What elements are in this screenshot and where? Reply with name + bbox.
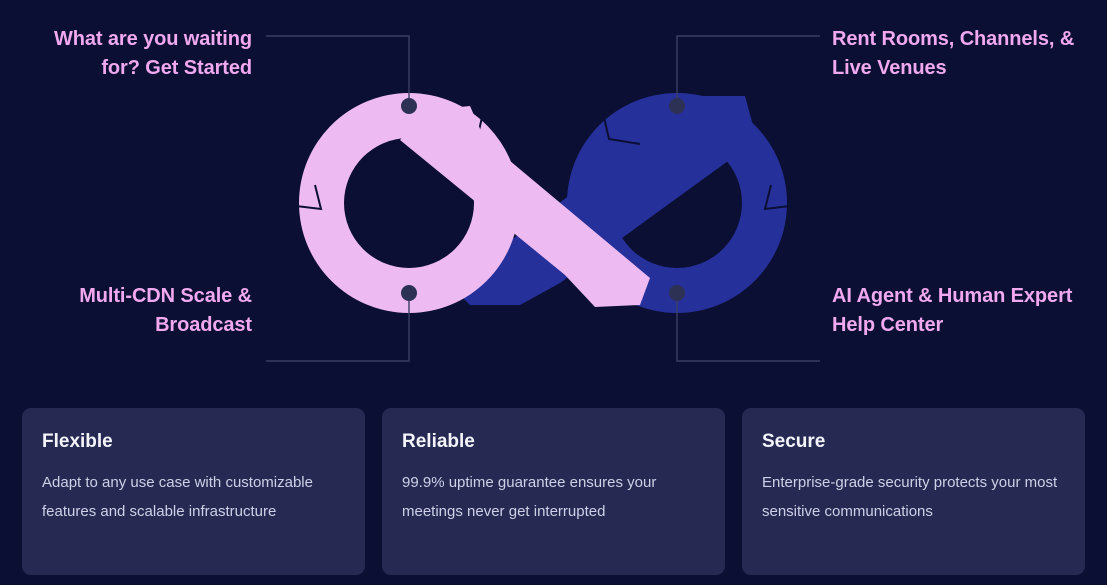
card-title: Reliable bbox=[402, 430, 705, 454]
feature-card-flexible: Flexible Adapt to any use case with cust… bbox=[22, 408, 365, 575]
callout-label-top-right: Rent Rooms, Channels, & Live Venues bbox=[832, 25, 1082, 83]
feature-card-reliable: Reliable 99.9% uptime guarantee ensures … bbox=[382, 408, 725, 575]
card-title: Flexible bbox=[42, 430, 345, 454]
callout-label-bottom-right: AI Agent & Human Expert Help Center bbox=[832, 282, 1082, 340]
card-title: Secure bbox=[762, 430, 1065, 454]
card-body: Adapt to any use case with customizable … bbox=[42, 468, 345, 526]
card-body: Enterprise-grade security protects your … bbox=[762, 468, 1065, 526]
connector-dot-bottom-right[interactable] bbox=[669, 285, 685, 301]
feature-card-secure: Secure Enterprise-grade security protect… bbox=[742, 408, 1085, 575]
infinity-loop-diagram: What are you waiting for? Get Started Mu… bbox=[0, 0, 1107, 400]
feature-card-row: Flexible Adapt to any use case with cust… bbox=[22, 408, 1085, 575]
page-root: What are you waiting for? Get Started Mu… bbox=[0, 0, 1107, 585]
card-body: 99.9% uptime guarantee ensures your meet… bbox=[402, 468, 705, 526]
callout-label-top-left: What are you waiting for? Get Started bbox=[26, 25, 252, 83]
connector-dot-top-left[interactable] bbox=[401, 98, 417, 114]
connector-dot-top-right[interactable] bbox=[669, 98, 685, 114]
connector-dot-bottom-left[interactable] bbox=[401, 285, 417, 301]
callout-label-bottom-left: Multi-CDN Scale & Broadcast bbox=[26, 282, 252, 340]
